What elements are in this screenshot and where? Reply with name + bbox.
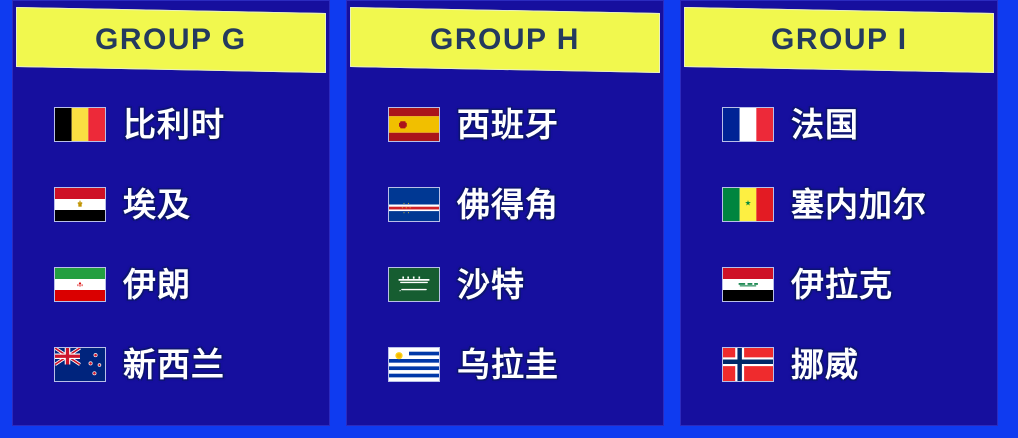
team-list-h: 西班牙 (346, 76, 664, 422)
team-row[interactable]: 塞内加尔 (680, 164, 998, 244)
team-row[interactable]: 沙特 (346, 244, 664, 324)
flag-iran-icon (54, 267, 106, 302)
team-name: 佛得角 (457, 188, 559, 221)
flag-cape-verde-icon (388, 187, 440, 222)
team-row[interactable]: 佛得角 (346, 164, 664, 244)
team-name: 塞内加尔 (791, 188, 927, 221)
team-row[interactable]: 西班牙 (346, 84, 664, 164)
team-name: 西班牙 (457, 108, 559, 141)
team-name: 新西兰 (123, 348, 225, 381)
group-column-i: GROUP I 法国 (680, 0, 998, 426)
flag-spain-icon (388, 107, 440, 142)
team-name: 伊朗 (123, 268, 191, 301)
team-row[interactable]: 新西兰 (12, 324, 330, 404)
team-list-i: 法国 塞内加尔 (680, 76, 998, 422)
flag-norway-icon (722, 347, 774, 382)
group-header-banner-h: GROUP H (350, 7, 660, 73)
team-row[interactable]: 挪威 (680, 324, 998, 404)
team-row[interactable]: 乌拉圭 (346, 324, 664, 404)
group-title-g: GROUP G (95, 25, 247, 55)
group-header-banner-g: GROUP G (16, 7, 326, 73)
flag-new-zealand-icon (54, 347, 106, 382)
team-name: 乌拉圭 (457, 348, 559, 381)
team-row[interactable]: 伊拉克 (680, 244, 998, 324)
group-header-banner-i: GROUP I (684, 7, 994, 73)
flag-uruguay-icon (388, 347, 440, 382)
team-row[interactable]: 埃及 (12, 164, 330, 244)
team-name: 法国 (791, 108, 859, 141)
group-column-h: GROUP H 西班牙 (346, 0, 664, 426)
group-draw-board: GROUP G 比利时 (0, 0, 1018, 438)
team-name: 伊拉克 (791, 268, 893, 301)
flag-belgium-icon (54, 107, 106, 142)
flag-iraq-icon (722, 267, 774, 302)
flag-senegal-icon (722, 187, 774, 222)
team-name: 挪威 (791, 348, 859, 381)
group-column-g: GROUP G 比利时 (12, 0, 330, 426)
team-name: 比利时 (123, 108, 225, 141)
team-row[interactable]: 法国 (680, 84, 998, 164)
group-title-h: GROUP H (430, 25, 580, 55)
team-list-g: 比利时 埃及 (12, 76, 330, 422)
team-row[interactable]: 比利时 (12, 84, 330, 164)
flag-saudi-arabia-icon (388, 267, 440, 302)
group-title-i: GROUP I (771, 25, 908, 55)
flag-egypt-icon (54, 187, 106, 222)
team-name: 埃及 (123, 188, 191, 221)
team-row[interactable]: 伊朗 (12, 244, 330, 324)
flag-france-icon (722, 107, 774, 142)
team-name: 沙特 (457, 268, 525, 301)
